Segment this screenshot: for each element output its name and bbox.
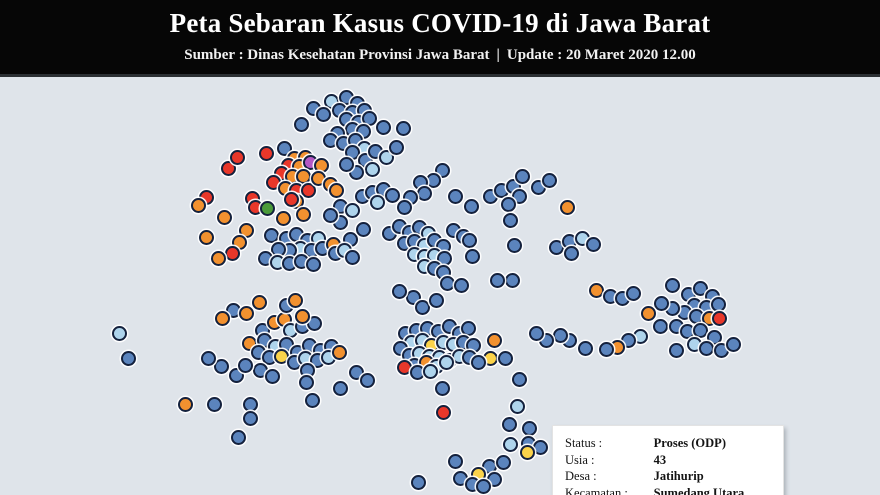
map-case-marker[interactable] [529, 326, 544, 341]
case-info-label: Desa : [565, 468, 654, 485]
page-header: Peta Sebaran Kasus COVID-19 di Jawa Bara… [0, 0, 880, 74]
map-case-marker[interactable] [699, 341, 714, 356]
map-case-marker[interactable] [191, 198, 206, 213]
map-case-marker[interactable] [333, 381, 348, 396]
map-case-marker[interactable] [339, 157, 354, 172]
map-case-marker[interactable] [215, 311, 230, 326]
map-case-marker[interactable] [207, 397, 222, 412]
map-case-marker[interactable] [542, 173, 557, 188]
map-case-marker[interactable] [112, 326, 127, 341]
map-case-marker[interactable] [396, 121, 411, 136]
case-info-row: Usia :43 [565, 452, 773, 469]
map-case-marker[interactable] [199, 230, 214, 245]
case-info-table: Status :Proses (ODP)Usia :43Desa :Jatihu… [565, 435, 773, 495]
map-case-marker[interactable] [626, 286, 641, 301]
map-case-marker[interactable] [503, 213, 518, 228]
map-case-marker[interactable] [462, 233, 477, 248]
map-case-marker[interactable] [306, 257, 321, 272]
subtitle-source: Sumber : Dinas Kesehatan Provinsi Jawa B… [184, 47, 489, 63]
map-case-marker[interactable] [439, 355, 454, 370]
map-case-marker[interactable] [332, 345, 347, 360]
map-case-marker[interactable] [294, 117, 309, 132]
map-case-marker[interactable] [553, 328, 568, 343]
case-info-row: Desa :Jatihurip [565, 468, 773, 485]
case-info-tooltip: Status :Proses (ODP)Usia :43Desa :Jatihu… [552, 425, 784, 495]
map-case-marker[interactable] [284, 192, 299, 207]
map-case-marker[interactable] [726, 337, 741, 352]
map-case-marker[interactable] [356, 222, 371, 237]
map-case-marker[interactable] [423, 364, 438, 379]
map-case-marker[interactable] [345, 203, 360, 218]
map-case-marker[interactable] [448, 454, 463, 469]
map-case-marker[interactable] [426, 173, 441, 188]
map-case-marker[interactable] [392, 284, 407, 299]
map-case-marker[interactable] [230, 150, 245, 165]
map-case-marker[interactable] [385, 188, 400, 203]
map-case-marker[interactable] [669, 343, 684, 358]
map-case-marker[interactable] [288, 293, 303, 308]
map-case-marker[interactable] [510, 399, 525, 414]
map-case-marker[interactable] [564, 246, 579, 261]
map-case-marker[interactable] [665, 278, 680, 293]
map-case-marker[interactable] [505, 273, 520, 288]
case-info-value: 43 [654, 452, 773, 469]
case-info-value: Jatihurip [654, 468, 773, 485]
page-title: Peta Sebaran Kasus COVID-19 di Jawa Bara… [170, 6, 711, 40]
map-case-marker[interactable] [440, 276, 455, 291]
map-case-marker[interactable] [498, 351, 513, 366]
map-case-marker[interactable] [323, 208, 338, 223]
map-case-marker[interactable] [461, 321, 476, 336]
map-case-marker[interactable] [225, 246, 240, 261]
map-case-marker[interactable] [264, 228, 279, 243]
map-case-marker[interactable] [501, 197, 516, 212]
page-subtitle: Sumber : Dinas Kesehatan Provinsi Jawa B… [184, 44, 695, 66]
map-case-marker[interactable] [389, 140, 404, 155]
covid-map-page: Peta Sebaran Kasus COVID-19 di Jawa Bara… [0, 0, 880, 495]
map-case-marker[interactable] [296, 207, 311, 222]
map-case-marker[interactable] [502, 417, 517, 432]
map-case-marker[interactable] [415, 300, 430, 315]
map-case-marker[interactable] [599, 342, 614, 357]
case-info-row: Status :Proses (ODP) [565, 435, 773, 452]
map-case-marker[interactable] [586, 237, 601, 252]
subtitle-separator: | [490, 44, 507, 66]
map-case-marker[interactable] [417, 186, 432, 201]
map-case-marker[interactable] [512, 372, 527, 387]
map-case-marker[interactable] [560, 200, 575, 215]
case-info-value: Sumedang Utara [654, 485, 773, 495]
map-case-marker[interactable] [231, 430, 246, 445]
map-case-marker[interactable] [243, 397, 258, 412]
map-case-marker[interactable] [641, 306, 656, 321]
map-case-marker[interactable] [259, 146, 274, 161]
map-case-marker[interactable] [276, 211, 291, 226]
map-case-marker[interactable] [260, 201, 275, 216]
case-info-value: Proses (ODP) [654, 435, 773, 452]
map-case-marker[interactable] [465, 249, 480, 264]
map-case-marker[interactable] [411, 475, 426, 490]
map-case-marker[interactable] [252, 295, 267, 310]
map-case-marker[interactable] [522, 421, 537, 436]
subtitle-update: Update : 20 Maret 2020 12.00 [507, 47, 696, 63]
map-case-marker[interactable] [589, 283, 604, 298]
map-case-marker[interactable] [693, 323, 708, 338]
map-case-marker[interactable] [201, 351, 216, 366]
map-case-marker[interactable] [503, 437, 518, 452]
map-case-marker[interactable] [178, 397, 193, 412]
map-case-marker[interactable] [121, 351, 136, 366]
map-case-marker[interactable] [520, 445, 535, 460]
map-case-marker[interactable] [490, 273, 505, 288]
map-case-marker[interactable] [238, 358, 253, 373]
map-case-marker[interactable] [436, 405, 451, 420]
map-case-marker[interactable] [515, 169, 530, 184]
map-case-marker[interactable] [507, 238, 522, 253]
map-case-marker[interactable] [653, 319, 668, 334]
map-case-marker[interactable] [360, 373, 375, 388]
map-case-marker[interactable] [211, 251, 226, 266]
map-case-marker[interactable] [487, 333, 502, 348]
map-case-marker[interactable] [365, 162, 380, 177]
map-case-marker[interactable] [265, 369, 280, 384]
map-case-marker[interactable] [345, 250, 360, 265]
map-case-marker[interactable] [578, 341, 593, 356]
map-case-marker[interactable] [496, 455, 511, 470]
case-info-label: Kecamatan : [565, 485, 654, 495]
case-info-label: Usia : [565, 452, 654, 469]
map-case-marker[interactable] [712, 311, 727, 326]
map-case-marker[interactable] [454, 278, 469, 293]
map-case-marker[interactable] [301, 183, 316, 198]
map-canvas[interactable]: Status :Proses (ODP)Usia :43Desa :Jatihu… [0, 77, 880, 495]
map-case-marker[interactable] [239, 306, 254, 321]
map-case-marker[interactable] [464, 199, 479, 214]
map-case-marker[interactable] [295, 309, 310, 324]
map-case-marker[interactable] [376, 120, 391, 135]
map-case-marker[interactable] [654, 296, 669, 311]
map-case-marker[interactable] [305, 393, 320, 408]
map-case-marker[interactable] [296, 169, 311, 184]
map-case-marker[interactable] [243, 411, 258, 426]
map-case-marker[interactable] [435, 381, 450, 396]
map-case-marker[interactable] [471, 355, 486, 370]
map-case-marker[interactable] [711, 297, 726, 312]
map-case-marker[interactable] [217, 210, 232, 225]
map-case-marker[interactable] [299, 375, 314, 390]
map-case-marker[interactable] [533, 440, 548, 455]
case-info-label: Status : [565, 435, 654, 452]
map-case-marker[interactable] [316, 107, 331, 122]
map-case-marker[interactable] [397, 200, 412, 215]
case-info-row: Kecamatan :Sumedang Utara [565, 485, 773, 495]
map-case-marker[interactable] [329, 183, 344, 198]
map-case-marker[interactable] [448, 189, 463, 204]
map-case-marker[interactable] [476, 479, 491, 494]
map-case-marker[interactable] [370, 195, 385, 210]
map-case-marker[interactable] [214, 359, 229, 374]
map-case-marker[interactable] [429, 293, 444, 308]
